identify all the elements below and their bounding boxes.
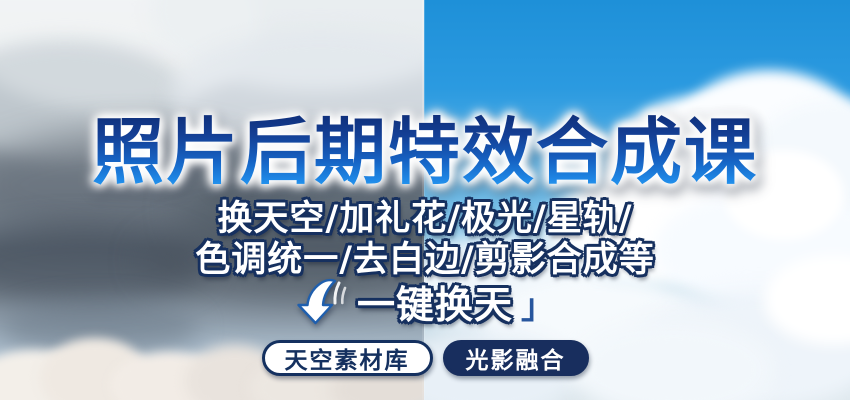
feature-badges: 天空素材库 光影融合 (0, 338, 850, 378)
course-promo-banner: 照片后期特效合成课 换天空/加礼花/极光/星轨/ 色调统一/去白边/剪影合成等 … (0, 0, 850, 400)
page-title: 照片后期特效合成课 (0, 114, 850, 190)
corner-bracket: 」 (521, 290, 555, 324)
one-click-feature-row: 一键换天 」 (0, 276, 850, 326)
curved-down-arrow-icon (295, 276, 351, 326)
status-badge-sky-library[interactable]: 天空素材库 (262, 340, 433, 376)
one-click-label: 一键换天 (357, 274, 513, 329)
subtitle-line-1: 换天空/加礼花/极光/星轨/ (0, 200, 850, 238)
status-badge-light-blend[interactable]: 光影融合 (443, 340, 589, 376)
